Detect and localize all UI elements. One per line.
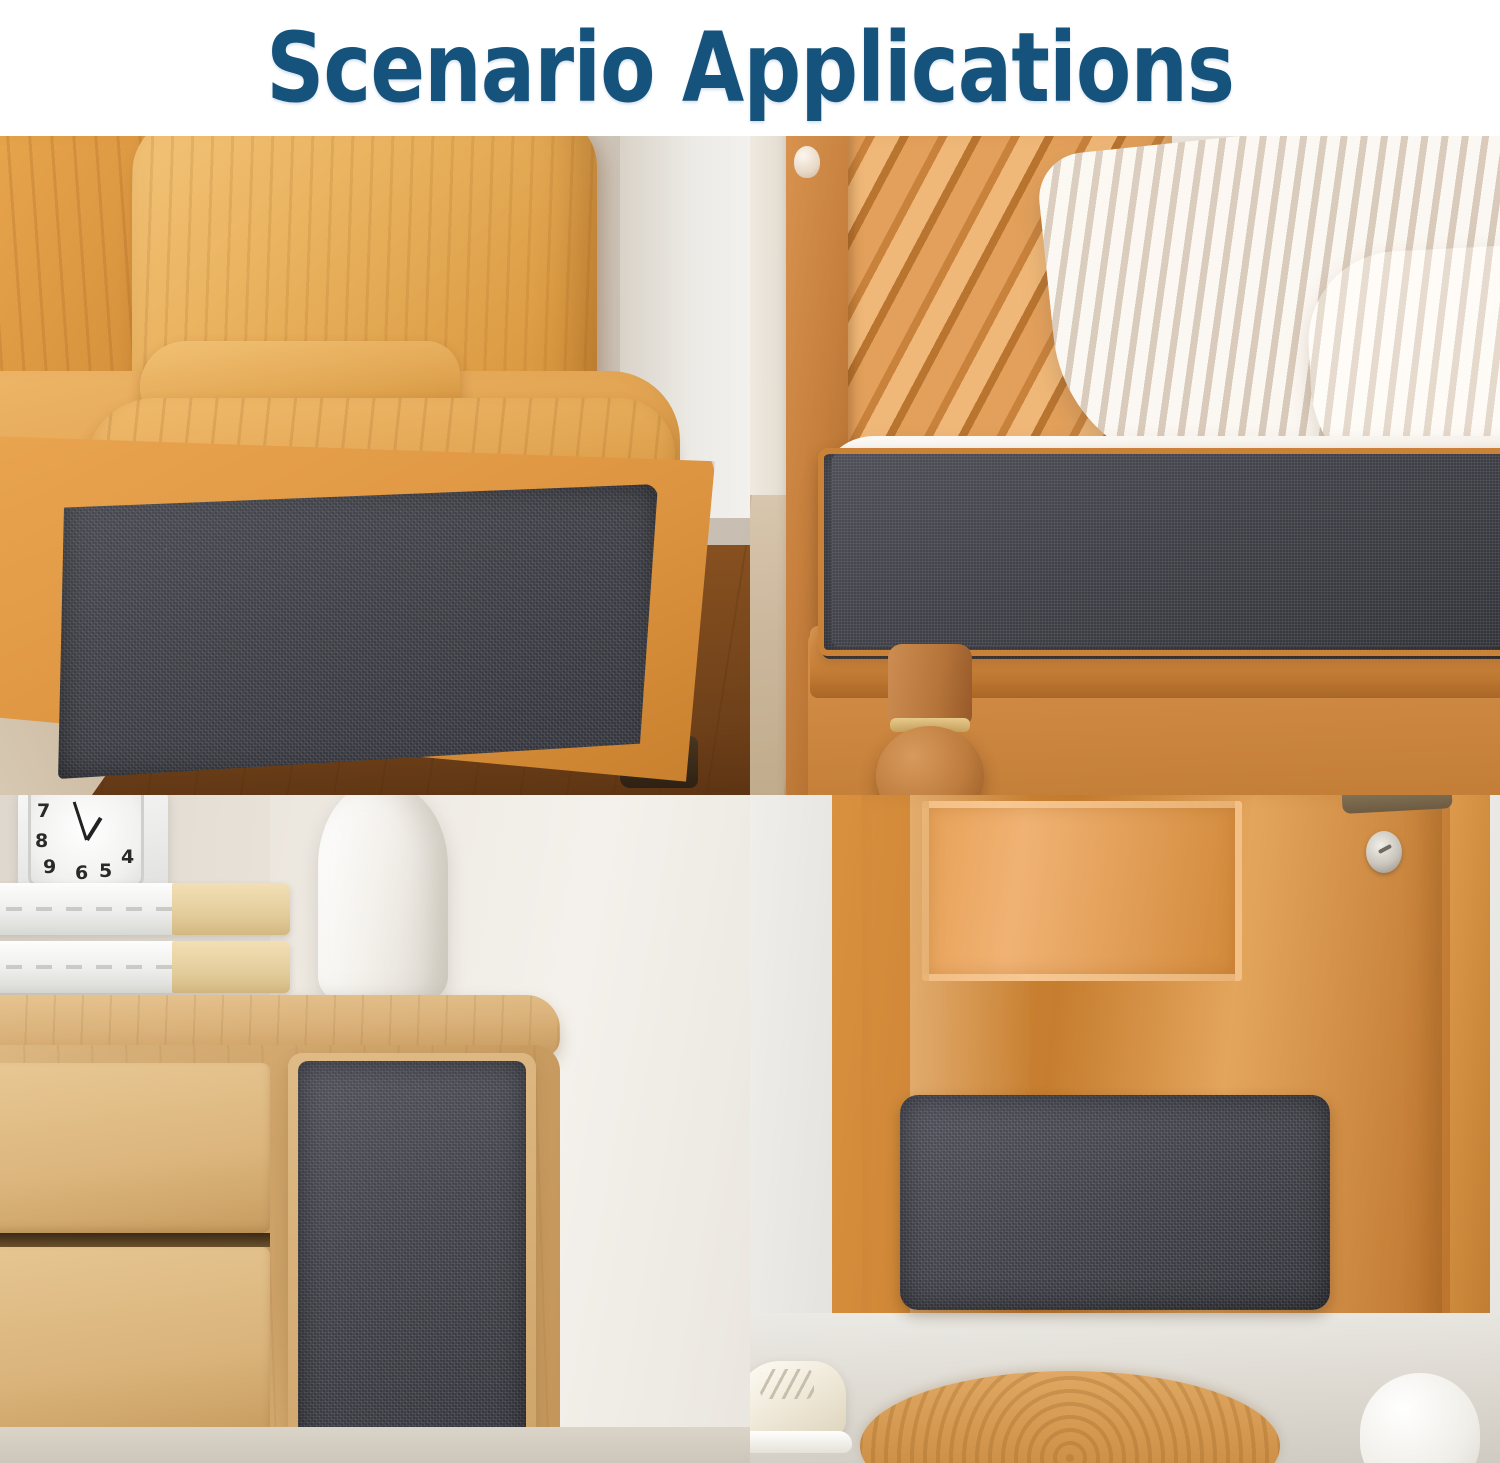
scratch-mat-compartment — [298, 1061, 526, 1453]
title-bar: Scenario Applications — [0, 0, 1500, 136]
door-panel-upper — [922, 801, 1242, 981]
nightstand-drawer-lower[interactable] — [0, 1247, 270, 1447]
book-spine-text — [6, 965, 176, 969]
scratch-mat-door — [900, 1095, 1330, 1310]
sneakers — [750, 1341, 852, 1453]
clock-hour-hand — [85, 817, 102, 841]
page-title: Scenario Applications — [266, 18, 1234, 118]
panel-couch[interactable]: couch — [750, 136, 1500, 795]
book-pages — [172, 883, 290, 935]
book — [0, 941, 290, 993]
white-vase — [318, 795, 448, 1003]
book-stack — [0, 883, 300, 1001]
bed-post-knob — [794, 146, 820, 178]
clock-numeral: 6 — [75, 862, 88, 884]
floor-line — [0, 1427, 750, 1463]
book-pages — [172, 941, 290, 993]
clock-numeral: 8 — [35, 830, 48, 852]
scratch-mat-sofa — [58, 484, 658, 779]
door-hinge-screw — [1366, 831, 1402, 873]
panel-compartment[interactable]: 7 8 9 6 5 4 — [0, 795, 750, 1463]
book — [0, 883, 290, 935]
clock-minute-hand — [73, 801, 88, 840]
book-spine-text — [6, 907, 176, 911]
bed-leg-top — [888, 644, 972, 724]
nightstand-drawer-upper[interactable] — [0, 1063, 270, 1233]
clock-numeral: 4 — [121, 846, 134, 868]
scratch-mat-bed-frame — [818, 448, 1500, 656]
product-scenario-infographic: Scenario Applications sofas — [0, 0, 1500, 1463]
clock-face: 7 8 9 6 5 4 — [28, 795, 144, 887]
clock-numeral: 9 — [43, 856, 56, 878]
scenario-grid: sofas couch — [0, 136, 1500, 1463]
panel-sofas[interactable]: sofas — [0, 136, 750, 795]
drawer-gap — [0, 1233, 270, 1247]
sneaker-sole — [750, 1431, 852, 1453]
clock-numeral: 7 — [37, 800, 50, 822]
clock-numeral: 5 — [99, 860, 112, 882]
bed-leg-ball — [876, 726, 984, 795]
panel-bedroom-door[interactable]: bedroom door — [750, 795, 1500, 1463]
bed-leg — [870, 644, 990, 795]
sneaker-laces — [760, 1369, 814, 1399]
